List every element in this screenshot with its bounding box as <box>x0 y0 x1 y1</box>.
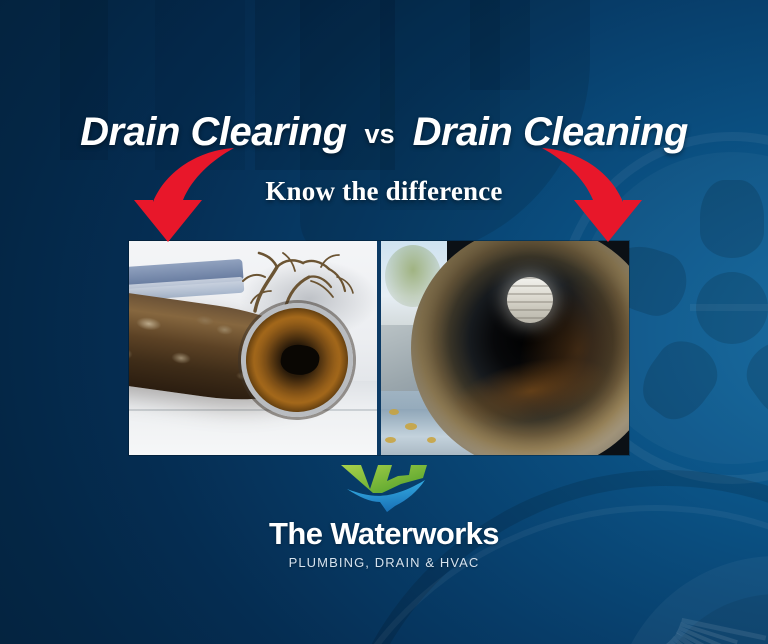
photo-leaf <box>427 437 436 443</box>
gauge-tick <box>678 626 735 644</box>
headline-subtitle: Know the difference <box>0 176 768 207</box>
background-block <box>470 0 530 90</box>
valve-wheel-spoke <box>736 330 768 431</box>
logo-wordmark: The Waterworks <box>0 516 768 552</box>
photo-leaf <box>405 423 417 430</box>
gauge-tick <box>671 636 720 644</box>
headline: Drain Clearing vs Drain Cleaning <box>0 110 768 155</box>
valve-wheel-spoke <box>631 330 729 431</box>
clean-pipe-photo <box>381 241 629 455</box>
photo-leaf <box>385 437 396 443</box>
valve-wheel-hub-slot <box>690 304 768 311</box>
photo-floor-line <box>129 409 377 411</box>
company-logo: The Waterworks PLUMBING, DRAIN & HVAC <box>0 462 768 570</box>
headline-separator: vs <box>365 119 395 150</box>
headline-right-term: Drain Cleaning <box>413 110 688 155</box>
headline-left-term: Drain Clearing <box>80 110 346 155</box>
gauge-tick <box>676 630 731 644</box>
clogged-pipe-photo <box>129 241 377 455</box>
logo-tagline: PLUMBING, DRAIN & HVAC <box>0 555 768 570</box>
pipe-far-end-detail <box>507 277 553 323</box>
waterworks-w-logo-icon <box>337 462 431 514</box>
gauge-tick <box>669 639 714 644</box>
photo-leaf <box>389 409 399 415</box>
promotional-graphic: Drain Clearing vs Drain Cleaning Know th… <box>0 0 768 644</box>
gauge-inner <box>650 594 768 644</box>
comparison-photos <box>129 241 629 455</box>
gauge-tick <box>674 633 748 644</box>
gauge-tick <box>681 618 766 641</box>
gauge-tick <box>680 622 738 644</box>
valve-wheel-hub <box>696 272 768 344</box>
